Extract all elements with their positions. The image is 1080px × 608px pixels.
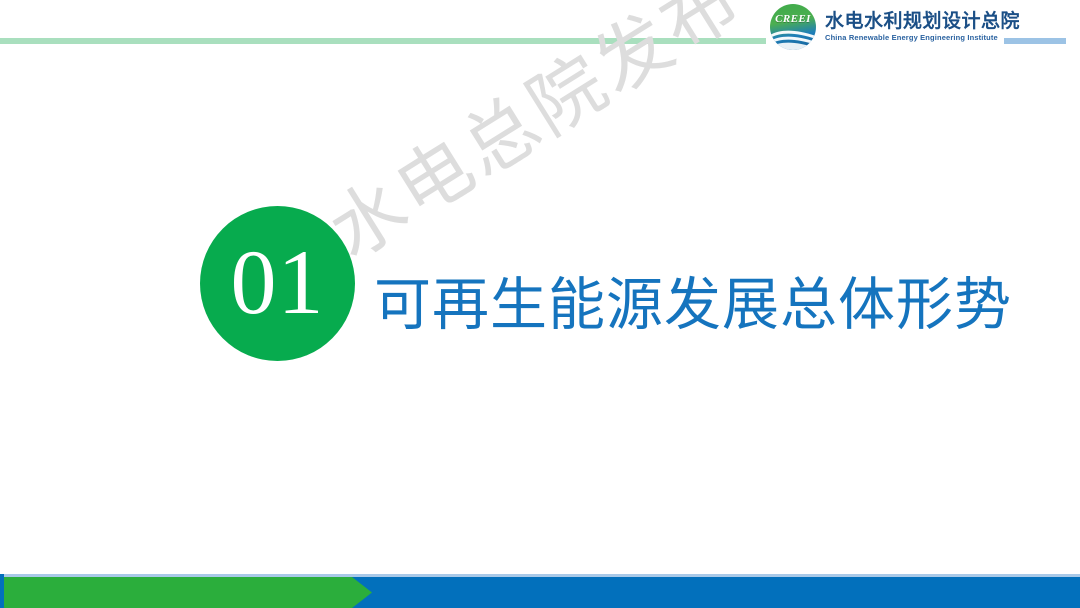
footer-top-edge <box>0 574 1080 577</box>
org-name-en: China Renewable Energy Engineering Insti… <box>825 34 1020 42</box>
org-name-cn: 水电水利规划设计总院 <box>825 12 1020 31</box>
section-number-badge: 01 <box>200 206 355 361</box>
footer-bar <box>0 574 1080 608</box>
organization-logo: CREEI 水电水利规划设计总院 China Renewable Energy … <box>770 3 1020 51</box>
header-rule-green <box>0 38 766 44</box>
page-title: 可再生能源发展总体形势 <box>374 277 1012 334</box>
logo-text-block: 水电水利规划设计总院 China Renewable Energy Engine… <box>825 12 1020 42</box>
slide-canvas: CREEI 水电水利规划设计总院 China Renewable Energy … <box>0 0 1080 608</box>
creei-wave-logo-icon: CREEI <box>770 4 816 50</box>
footer-chevron-shape <box>0 577 1080 608</box>
logo-mark-text: CREEI <box>770 13 816 25</box>
section-number-label: 01 <box>231 236 325 328</box>
footer-left-edge <box>0 574 4 608</box>
logo-waves-icon <box>770 28 816 50</box>
